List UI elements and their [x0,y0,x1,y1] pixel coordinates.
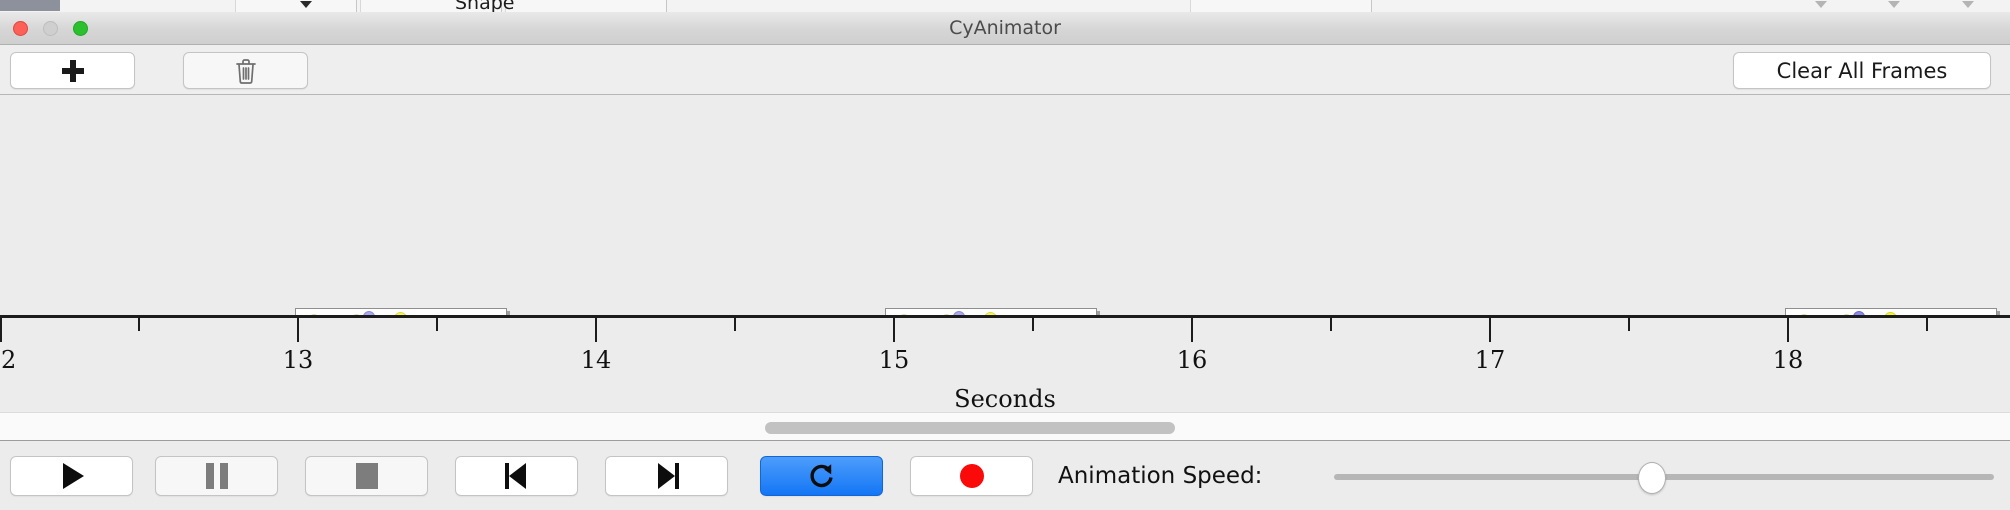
animation-speed-slider[interactable] [1334,474,1994,480]
timeline-frame-thumbnail[interactable]: MCM1 [885,308,1097,315]
record-icon [960,464,984,488]
clear-all-frames-button[interactable]: Clear All Frames [1733,52,1991,89]
timeline-ruler: 12131415161718 Seconds [0,315,2010,412]
pause-icon [206,463,228,489]
ruler-tick-major [595,318,597,342]
ruler-axis-title: Seconds [0,385,2010,412]
background-tab [505,0,667,12]
play-icon [63,463,84,489]
skip-previous-button[interactable] [455,456,578,496]
background-tab [235,0,357,12]
record-button[interactable] [910,456,1033,496]
background-dark-block [0,0,60,11]
ruler-tick-label: 13 [283,346,314,374]
stop-button[interactable] [305,456,428,496]
ruler-tick-major [1489,318,1491,342]
timeline-frames-panel[interactable]: MCM1 MCM1 MCM1 [0,95,2010,315]
playback-control-bar: Animation Speed: [0,441,2010,510]
ruler-tick-minor [1032,318,1034,331]
loop-button[interactable] [760,456,883,496]
skip-next-button[interactable] [605,456,728,496]
skip-next-icon [654,463,680,489]
ruler-tick-minor [1926,318,1928,331]
timeline-frame-thumbnail[interactable]: MCM1 [1785,308,1997,315]
background-tab [1190,0,1372,12]
scrollbar-thumb[interactable] [765,422,1175,434]
loop-icon [807,461,837,491]
ruler-tick-minor [1330,318,1332,331]
ruler-baseline [0,315,2010,318]
ruler-tick-label: 16 [1177,346,1208,374]
timeline-scrollbar[interactable] [0,412,2010,441]
ruler-tick-minor [734,318,736,331]
ruler-tick-label: 14 [581,346,612,374]
background-arrow-icon [300,1,312,8]
stop-icon [356,463,378,489]
cyanimator-window: Shape CyAnimator Clear All Frames MCM1 M… [0,0,2010,510]
skip-previous-icon [504,463,530,489]
background-arrow-icon [1815,1,1827,8]
title-bar: CyAnimator [0,12,2010,45]
ruler-tick-major [1191,318,1193,342]
background-arrow-icon [1962,1,1974,8]
ruler-tick-minor [436,318,438,331]
ruler-tick-minor [1628,318,1630,331]
ruler-tick-major [0,318,2,342]
add-frame-button[interactable] [10,52,135,89]
trash-icon [234,57,258,85]
background-arrow-icon [1888,1,1900,8]
plus-icon [61,59,85,83]
pause-button[interactable] [155,456,278,496]
ruler-tick-major [1787,318,1789,342]
ruler-tick-minor [138,318,140,331]
animation-speed-label: Animation Speed: [1058,456,1262,496]
ruler-tick-label: 15 [879,346,910,374]
slider-thumb[interactable] [1638,462,1666,494]
timeline-frame-thumbnail[interactable]: MCM1 [295,308,507,315]
play-button[interactable] [10,456,133,496]
delete-frame-button[interactable] [183,52,308,89]
ruler-tick-label: 12 [0,346,16,374]
ruler-tick-label: 18 [1773,346,1804,374]
ruler-tick-major [297,318,299,342]
ruler-tick-major [893,318,895,342]
toolbar: Clear All Frames [0,45,2010,95]
window-title: CyAnimator [0,12,2010,45]
ruler-tick-label: 17 [1475,346,1506,374]
